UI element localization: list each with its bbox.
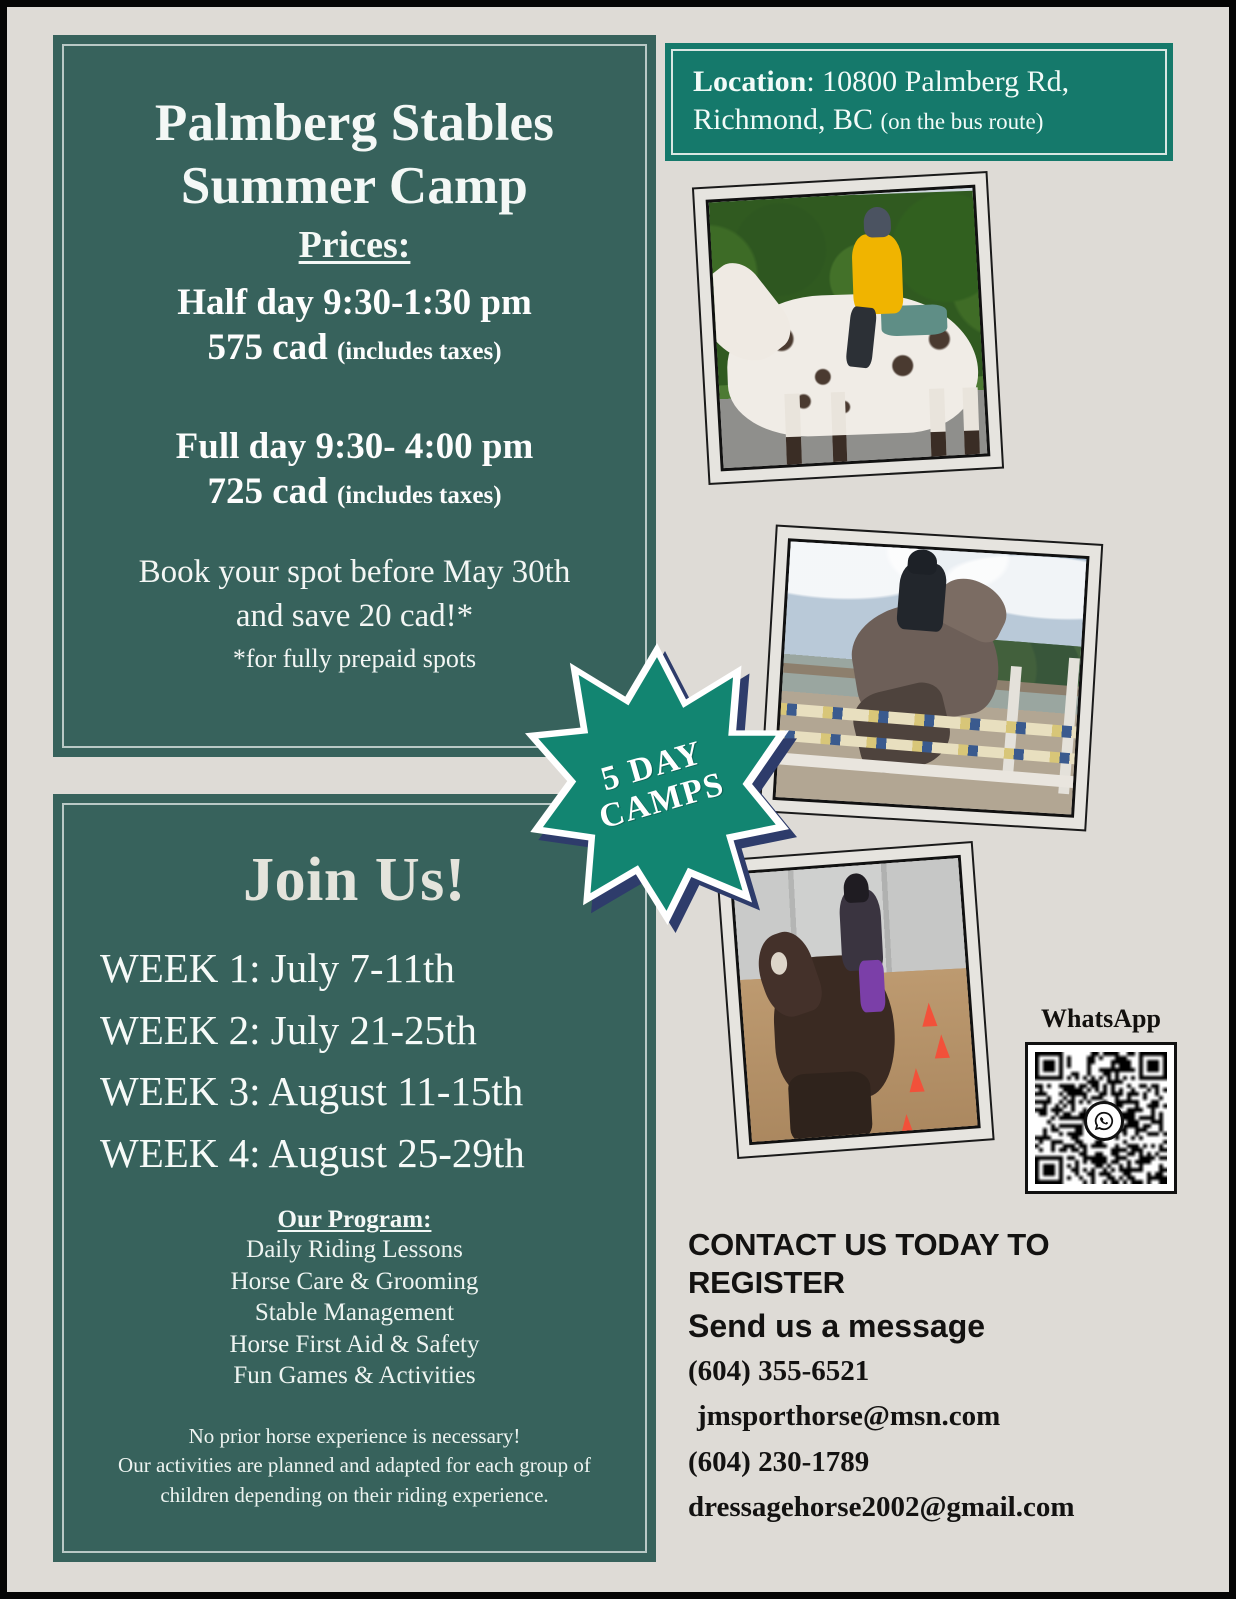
contact-heading: CONTACT US TODAY TO REGISTER bbox=[688, 1226, 1158, 1302]
half-day-label: Half day 9:30-1:30 pm bbox=[88, 281, 621, 324]
page-title: Palmberg Stables Summer Camp bbox=[88, 92, 621, 217]
contact-block: CONTACT US TODAY TO REGISTER Send us a m… bbox=[688, 1226, 1158, 1528]
location-note: (on the bus route) bbox=[881, 109, 1044, 134]
disclaimer-line-1: No prior horse experience is necessary! bbox=[88, 1422, 621, 1452]
experience-disclaimer: No prior horse experience is necessary! … bbox=[88, 1422, 621, 1511]
disclaimer-line-2: Our activities are planned and adapted f… bbox=[88, 1451, 621, 1481]
list-item: WEEK 2: July 21-25th bbox=[100, 1000, 621, 1062]
badge-text: 5 DAY CAMPS bbox=[491, 612, 823, 956]
whatsapp-label: WhatsApp bbox=[1021, 1004, 1181, 1034]
list-item: WEEK 4: August 25-29th bbox=[100, 1123, 621, 1185]
half-day-taxes-note: (includes taxes) bbox=[337, 338, 502, 365]
early-bird-line-1: Book your spot before May 30th bbox=[88, 551, 621, 595]
title-line-1: Palmberg Stables bbox=[88, 92, 621, 155]
location-address-line-2: Richmond, BC bbox=[693, 103, 873, 136]
list-item: Daily Riding Lessons bbox=[88, 1234, 621, 1266]
whatsapp-block: WhatsApp bbox=[1021, 1004, 1181, 1194]
location-address-line-1: : 10800 Palmberg Rd, bbox=[806, 65, 1069, 98]
disclaimer-line-3: children depending on their riding exper… bbox=[88, 1481, 621, 1511]
early-bird-line-2: and save 20 cad!* bbox=[88, 595, 621, 639]
location-box: Location: 10800 Palmberg Rd, Richmond, B… bbox=[665, 43, 1173, 161]
full-day-price: 725 cad bbox=[207, 471, 327, 512]
photo-child-on-spotted-appaloosa-on-road bbox=[692, 171, 1004, 485]
full-day-amount: 725 cad (includes taxes) bbox=[88, 470, 621, 513]
price-spacer bbox=[88, 369, 621, 411]
prices-label: Prices: bbox=[88, 223, 621, 267]
poster-page: Palmberg Stables Summer Camp Prices: Hal… bbox=[0, 0, 1236, 1599]
full-day-label: Full day 9:30- 4:00 pm bbox=[88, 425, 621, 468]
title-line-2: Summer Camp bbox=[88, 155, 621, 218]
whatsapp-icon bbox=[1084, 1101, 1124, 1141]
phone-number-2[interactable]: (604) 230-1789 bbox=[688, 1442, 1158, 1483]
program-list: Daily Riding Lessons Horse Care & Groomi… bbox=[88, 1234, 621, 1392]
early-bird-offer: Book your spot before May 30th and save … bbox=[88, 551, 621, 638]
week-list: WEEK 1: July 7-11th WEEK 2: July 21-25th… bbox=[88, 938, 621, 1184]
list-item: Horse Care & Grooming bbox=[88, 1266, 621, 1298]
contact-subheading: Send us a message bbox=[688, 1306, 1158, 1348]
list-item: Fun Games & Activities bbox=[88, 1360, 621, 1392]
program-label: Our Program: bbox=[88, 1206, 621, 1234]
list-item: WEEK 1: July 7-11th bbox=[100, 938, 621, 1000]
email-address-2[interactable]: dressagehorse2002@gmail.com bbox=[688, 1487, 1158, 1528]
photo-horse-jumping-over-poles bbox=[759, 525, 1104, 832]
location-label: Location bbox=[693, 65, 806, 98]
full-day-taxes-note: (includes taxes) bbox=[337, 482, 502, 509]
email-address-1[interactable]: jmsporthorse@msn.com bbox=[688, 1396, 1158, 1437]
phone-number-1[interactable]: (604) 355-6521 bbox=[688, 1351, 1158, 1392]
half-day-price: 575 cad bbox=[207, 327, 327, 368]
whatsapp-qr-code[interactable] bbox=[1025, 1042, 1177, 1194]
five-day-camps-badge: 5 DAY CAMPS bbox=[525, 643, 789, 925]
list-item: WEEK 3: August 11-15th bbox=[100, 1061, 621, 1123]
half-day-amount: 575 cad (includes taxes) bbox=[88, 326, 621, 369]
list-item: Stable Management bbox=[88, 1297, 621, 1329]
list-item: Horse First Aid & Safety bbox=[88, 1329, 621, 1361]
